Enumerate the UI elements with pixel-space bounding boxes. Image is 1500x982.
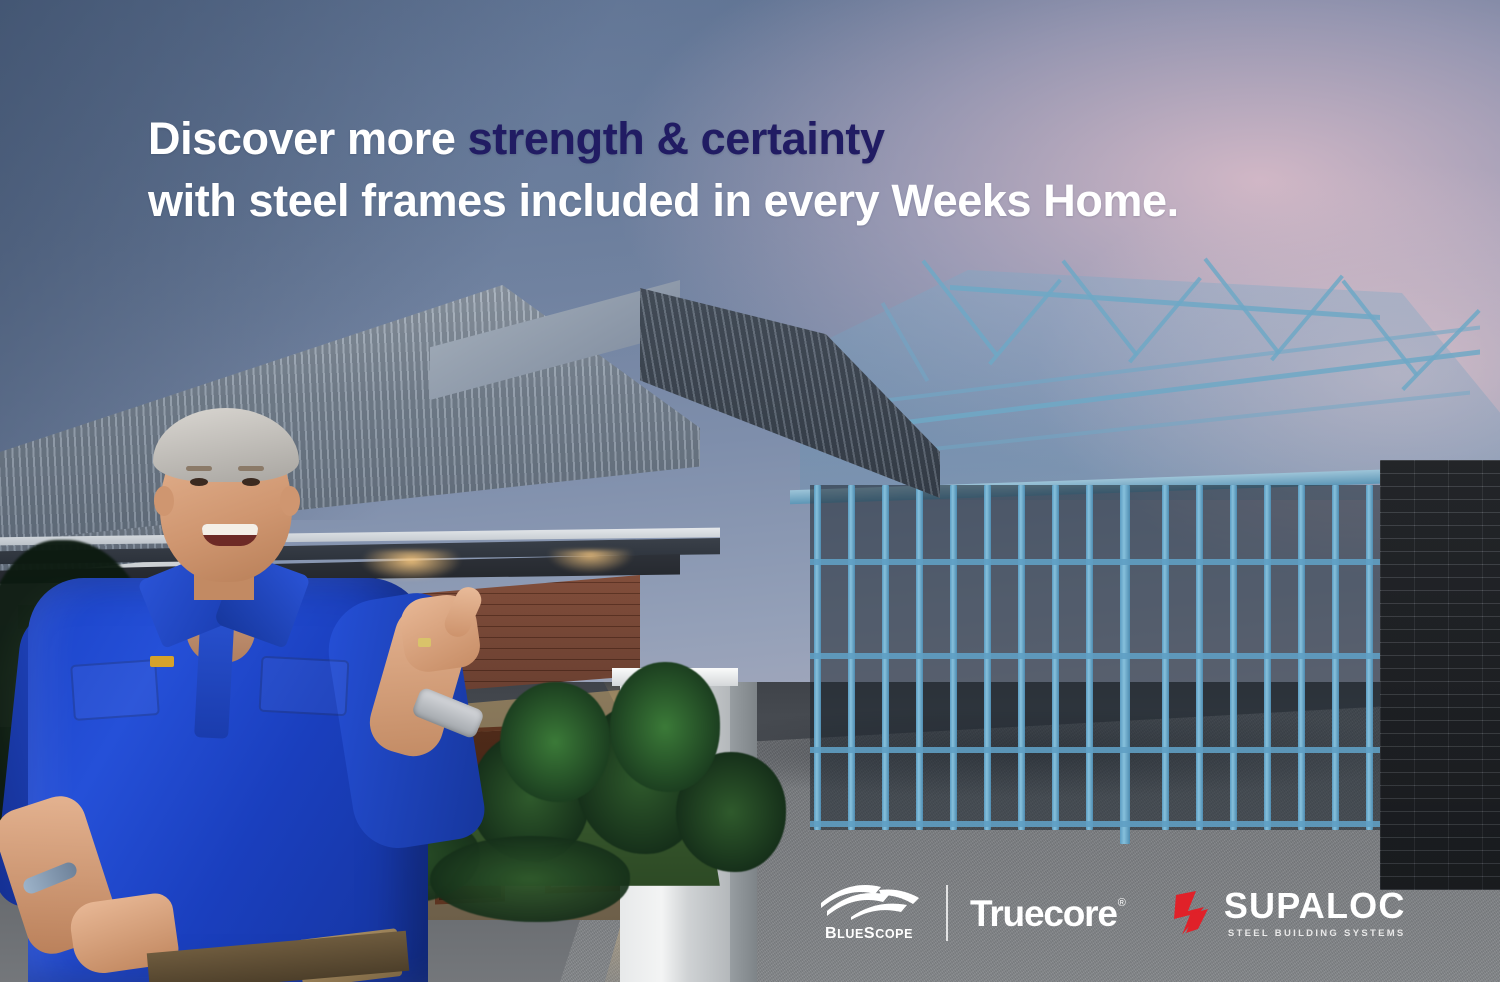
- partner-logo-bar: BLUESCOPE Truecore ® SUPALOC STEEL BUILD…: [806, 873, 1406, 953]
- ear: [280, 486, 300, 516]
- truecore-wordmark: Truecore: [970, 895, 1117, 932]
- headline-line-1-prefix: Discover more: [148, 113, 468, 164]
- headline-block: Discover more strength & certainty with …: [148, 108, 1348, 232]
- eye: [190, 478, 208, 486]
- bs-letter: LUE: [837, 927, 864, 941]
- eye: [242, 478, 260, 486]
- presenter-figure: [10, 400, 480, 982]
- feature-plant: [500, 682, 610, 802]
- eyebrow: [186, 466, 212, 471]
- steel-frame-structure: [790, 270, 1500, 830]
- ear: [154, 486, 174, 516]
- bluescope-wordmark: BLUESCOPE: [825, 925, 913, 943]
- shirt-pocket-right: [259, 656, 350, 717]
- supaloc-text-block: SUPALOC STEEL BUILDING SYSTEMS: [1224, 888, 1406, 939]
- shirt-pocket-left: [70, 659, 160, 721]
- corner-post: [1120, 485, 1130, 844]
- hero-banner: Discover more strength & certainty with …: [0, 0, 1500, 982]
- feature-plant: [610, 662, 720, 792]
- bs-letter: B: [825, 925, 837, 942]
- shirt-brand-tag: [150, 656, 174, 667]
- bluescope-wave-mark: [815, 884, 923, 922]
- supaloc-red-zigzag-mark: [1174, 889, 1220, 937]
- logo-divider: [946, 885, 948, 941]
- hair: [153, 408, 299, 482]
- supaloc-wordmark: SUPALOC: [1224, 888, 1406, 924]
- registered-trademark-icon: ®: [1118, 897, 1126, 909]
- supaloc-logo[interactable]: SUPALOC STEEL BUILDING SYSTEMS: [1174, 888, 1406, 939]
- bluescope-logo[interactable]: BLUESCOPE: [806, 884, 932, 943]
- finger-ring: [418, 638, 431, 647]
- bs-letter: COPE: [875, 927, 913, 941]
- teeth: [202, 524, 258, 535]
- headline-line-2: with steel frames included in every Week…: [148, 170, 1348, 232]
- truecore-logo[interactable]: Truecore ®: [970, 895, 1126, 932]
- brick-wall: [1380, 460, 1500, 890]
- headline-accent-text: strength & certainty: [468, 113, 885, 164]
- bs-letter: S: [864, 925, 875, 942]
- eyebrow: [238, 466, 264, 471]
- smiling-mouth: [202, 524, 258, 546]
- headline-line-1: Discover more strength & certainty: [148, 108, 1348, 170]
- supaloc-tagline: STEEL BUILDING SYSTEMS: [1224, 928, 1406, 939]
